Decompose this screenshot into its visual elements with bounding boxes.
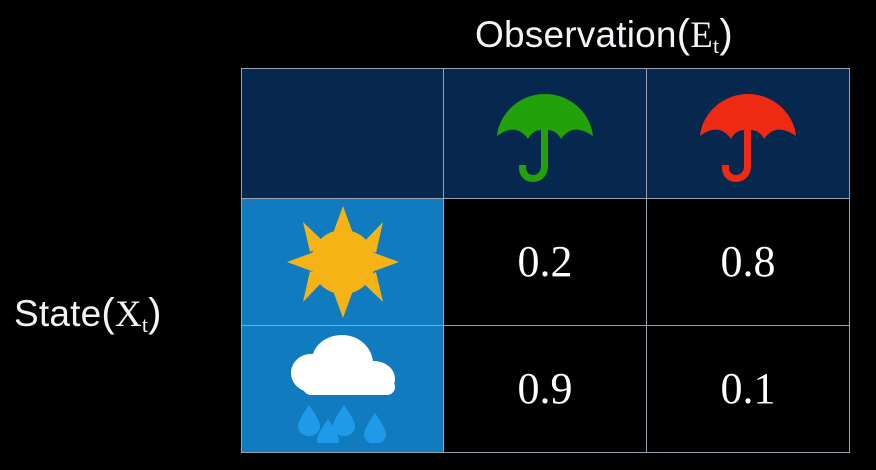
table-header-row bbox=[242, 69, 850, 199]
row-header-sun bbox=[242, 199, 444, 326]
state-open-paren: ( bbox=[101, 291, 115, 335]
state-label-text: State bbox=[14, 293, 101, 334]
rain-cloud-icon bbox=[242, 326, 443, 452]
observation-close-paren: ) bbox=[719, 12, 733, 56]
observation-axis-label: Observation(Et) bbox=[475, 14, 733, 54]
emission-probability-table: 0.2 0.8 0.9 0.1 bbox=[241, 68, 850, 453]
sun-icon bbox=[242, 199, 443, 325]
table-row: 0.2 0.8 bbox=[242, 199, 850, 326]
umbrella-green-icon bbox=[444, 69, 646, 198]
corner-cell bbox=[242, 69, 444, 199]
probability-cell: 0.8 bbox=[647, 199, 850, 326]
column-header-green-umbrella bbox=[444, 69, 647, 199]
umbrella-red-icon bbox=[647, 69, 849, 198]
observation-open-paren: ( bbox=[677, 12, 691, 56]
state-subscript: t bbox=[142, 312, 148, 337]
row-header-rain bbox=[242, 326, 444, 453]
probability-cell: 0.1 bbox=[647, 326, 850, 453]
probability-cell: 0.9 bbox=[444, 326, 647, 453]
table-row: 0.9 0.1 bbox=[242, 326, 850, 453]
observation-symbol: E bbox=[690, 15, 713, 56]
observation-subscript: t bbox=[713, 33, 719, 58]
state-axis-label: State(Xt) bbox=[14, 293, 162, 333]
probability-cell: 0.2 bbox=[444, 199, 647, 326]
state-close-paren: ) bbox=[148, 291, 162, 335]
observation-label-text: Observation bbox=[475, 14, 677, 55]
column-header-red-umbrella bbox=[647, 69, 850, 199]
state-symbol: X bbox=[115, 294, 142, 335]
